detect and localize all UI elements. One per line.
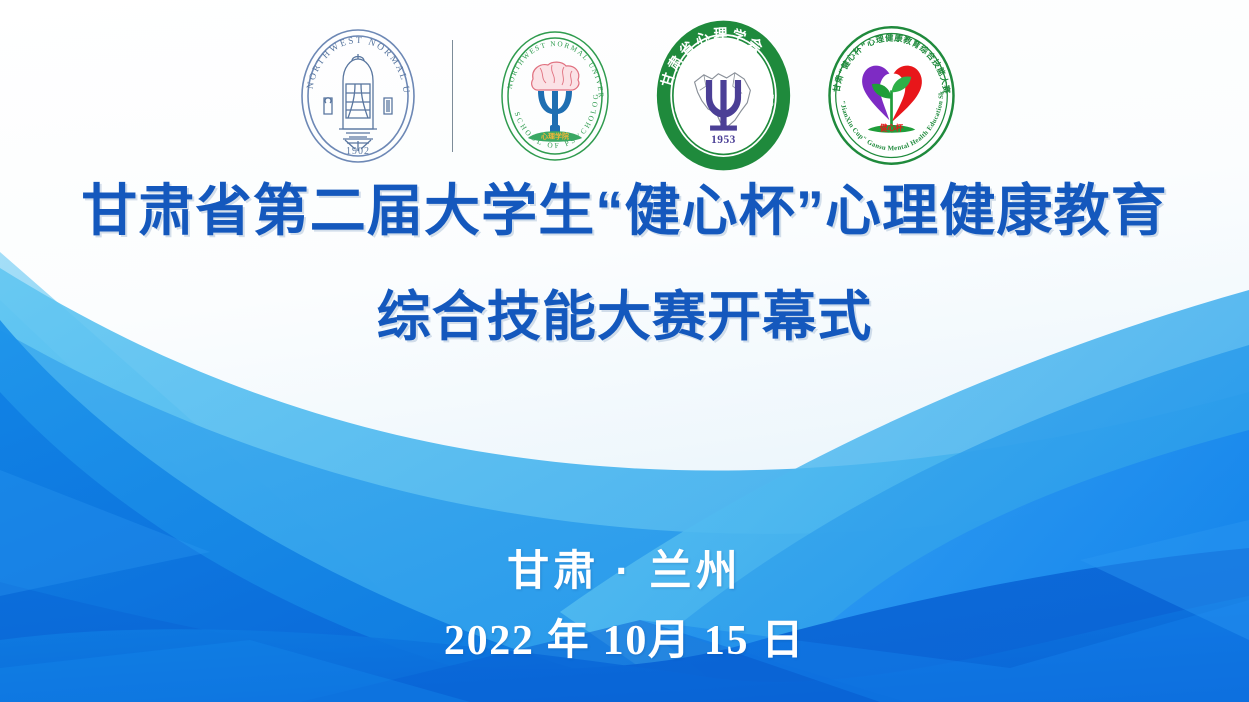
presentation-slide: NORTHWEST NORMAL UNIVERSITY [0,0,1249,702]
logo-gansu-psychological-society: 甘肃省心理学会 GANSU PSYCHOLOGICAL SOCIETY 1953 [639,20,807,172]
jianxin-cup-seal-icon: 甘肃“健心杯”心理健康教育综合技能大赛 "JianXin Cup" Gansu … [814,18,969,173]
logo-divider [452,40,453,152]
university-seal-icon: NORTHWEST NORMAL UNIVERSITY [283,21,433,171]
organizer-logo-row: NORTHWEST NORMAL UNIVERSITY [0,18,1249,173]
event-location: 甘肃 · 兰州 [0,548,1249,594]
logo-northwest-normal-university: NORTHWEST NORMAL UNIVERSITY [274,20,442,172]
event-date: 2022 年 10月 15 日 [0,618,1249,664]
logo-jianxin-cup-contest: 甘肃“健心杯”心理健康教育综合技能大赛 "JianXin Cup" Gansu … [807,20,975,172]
svg-text:健心杯: 健心杯 [879,123,903,133]
slide-title-block: 甘肃省第二届大学生“健心杯”心理健康教育 综合技能大赛开幕式 [0,182,1249,345]
svg-text:1953: 1953 [711,134,736,146]
title-line-2: 综合技能大赛开幕式 [0,289,1249,346]
psychology-school-seal-icon: NORTHWEST NORMAL UNIVERSITY SCHOOL OF PS… [480,21,630,171]
gansu-society-seal-icon: 甘肃省心理学会 GANSU PSYCHOLOGICAL SOCIETY 1953 [646,18,801,173]
logo-school-of-psychology: NORTHWEST NORMAL UNIVERSITY SCHOOL OF PS… [471,20,639,172]
svg-text:心理学院: 心理学院 [541,131,569,140]
svg-text:1902: 1902 [346,146,370,157]
slide-footer-block: 甘肃 · 兰州 2022 年 10月 15 日 [0,548,1249,664]
title-line-1: 甘肃省第二届大学生“健心杯”心理健康教育 [0,182,1249,241]
